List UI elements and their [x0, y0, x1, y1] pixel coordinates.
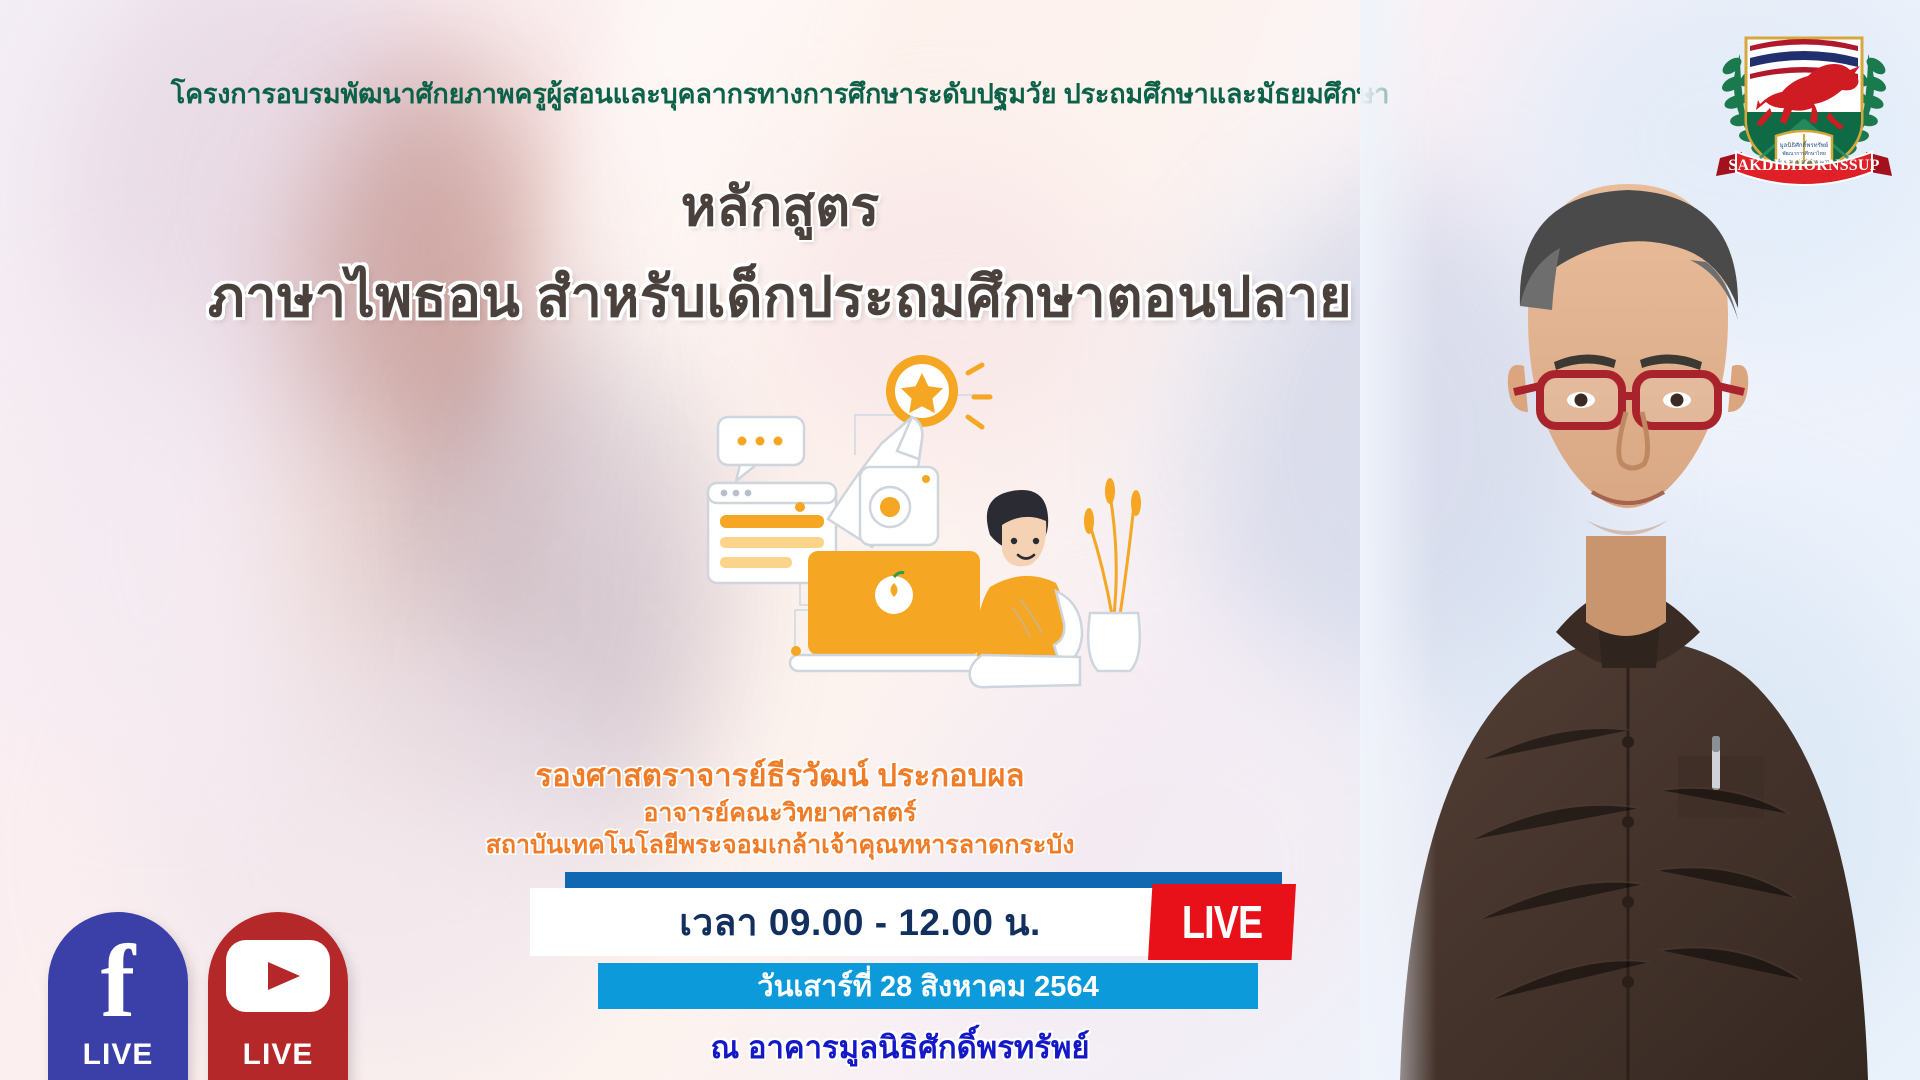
star-badge-icon	[886, 355, 990, 427]
venue-text: ณ อาคารมูลนิธิศักดิ์พรทรัพย์	[530, 1022, 1270, 1072]
course-title: ภาษาไพธอน สำหรับเด็กประถมศึกษาตอนปลาย	[0, 252, 1560, 341]
plant-vase-icon	[1084, 478, 1141, 671]
logo-banner-text: SAKDIBHORNSSUP	[1728, 157, 1879, 174]
laptop-icon	[790, 551, 998, 671]
date-strip: วันเสาร์ที่ 28 สิงหาคม 2564	[598, 963, 1258, 1009]
date-text: วันเสาร์ที่ 28 สิงหาคม 2564	[757, 963, 1098, 1009]
time-text: เวลา 09.00 - 12.00 น.	[679, 893, 1041, 952]
logo-book-line2: พัฒนาการศึกษาไทย	[1782, 150, 1826, 157]
background-blob	[0, 300, 300, 780]
facebook-live-label: LIVE	[83, 1038, 154, 1072]
youtube-live-badge[interactable]: LIVE	[208, 912, 348, 1080]
camera-icon	[860, 467, 938, 545]
program-header-text: โครงการอบรมพัฒนาศักยภาพครูผู้สอนและบุคลา…	[0, 72, 1560, 115]
facebook-f-icon: f	[101, 938, 136, 1026]
youtube-live-label: LIVE	[243, 1038, 314, 1072]
sakdibhornssup-crest-logo: มูลนิธิศักดิ์พรทรัพย์ พัฒนาการศึกษาไทย เ…	[1710, 8, 1898, 190]
live-badge: LIVE	[1148, 884, 1296, 960]
speaker-organization: สถาบันเทคโนโลยีพระจอมเกล้าเจ้าคุณทหารลาด…	[0, 825, 1560, 865]
youtube-play-icon	[224, 938, 332, 1019]
poster-canvas: โครงการอบรมพัฒนาศักยภาพครูผู้สอนและบุคลา…	[0, 0, 1920, 1080]
boy-character	[970, 490, 1082, 687]
live-badge-text: LIVE	[1182, 895, 1263, 949]
course-label: หลักสูตร	[0, 163, 1560, 249]
time-strip: เวลา 09.00 - 12.00 น.	[530, 888, 1190, 956]
facebook-live-badge[interactable]: f LIVE	[48, 912, 188, 1080]
chat-bubble-icon	[718, 417, 804, 481]
kid-coding-laptop-illustration	[690, 355, 1170, 705]
